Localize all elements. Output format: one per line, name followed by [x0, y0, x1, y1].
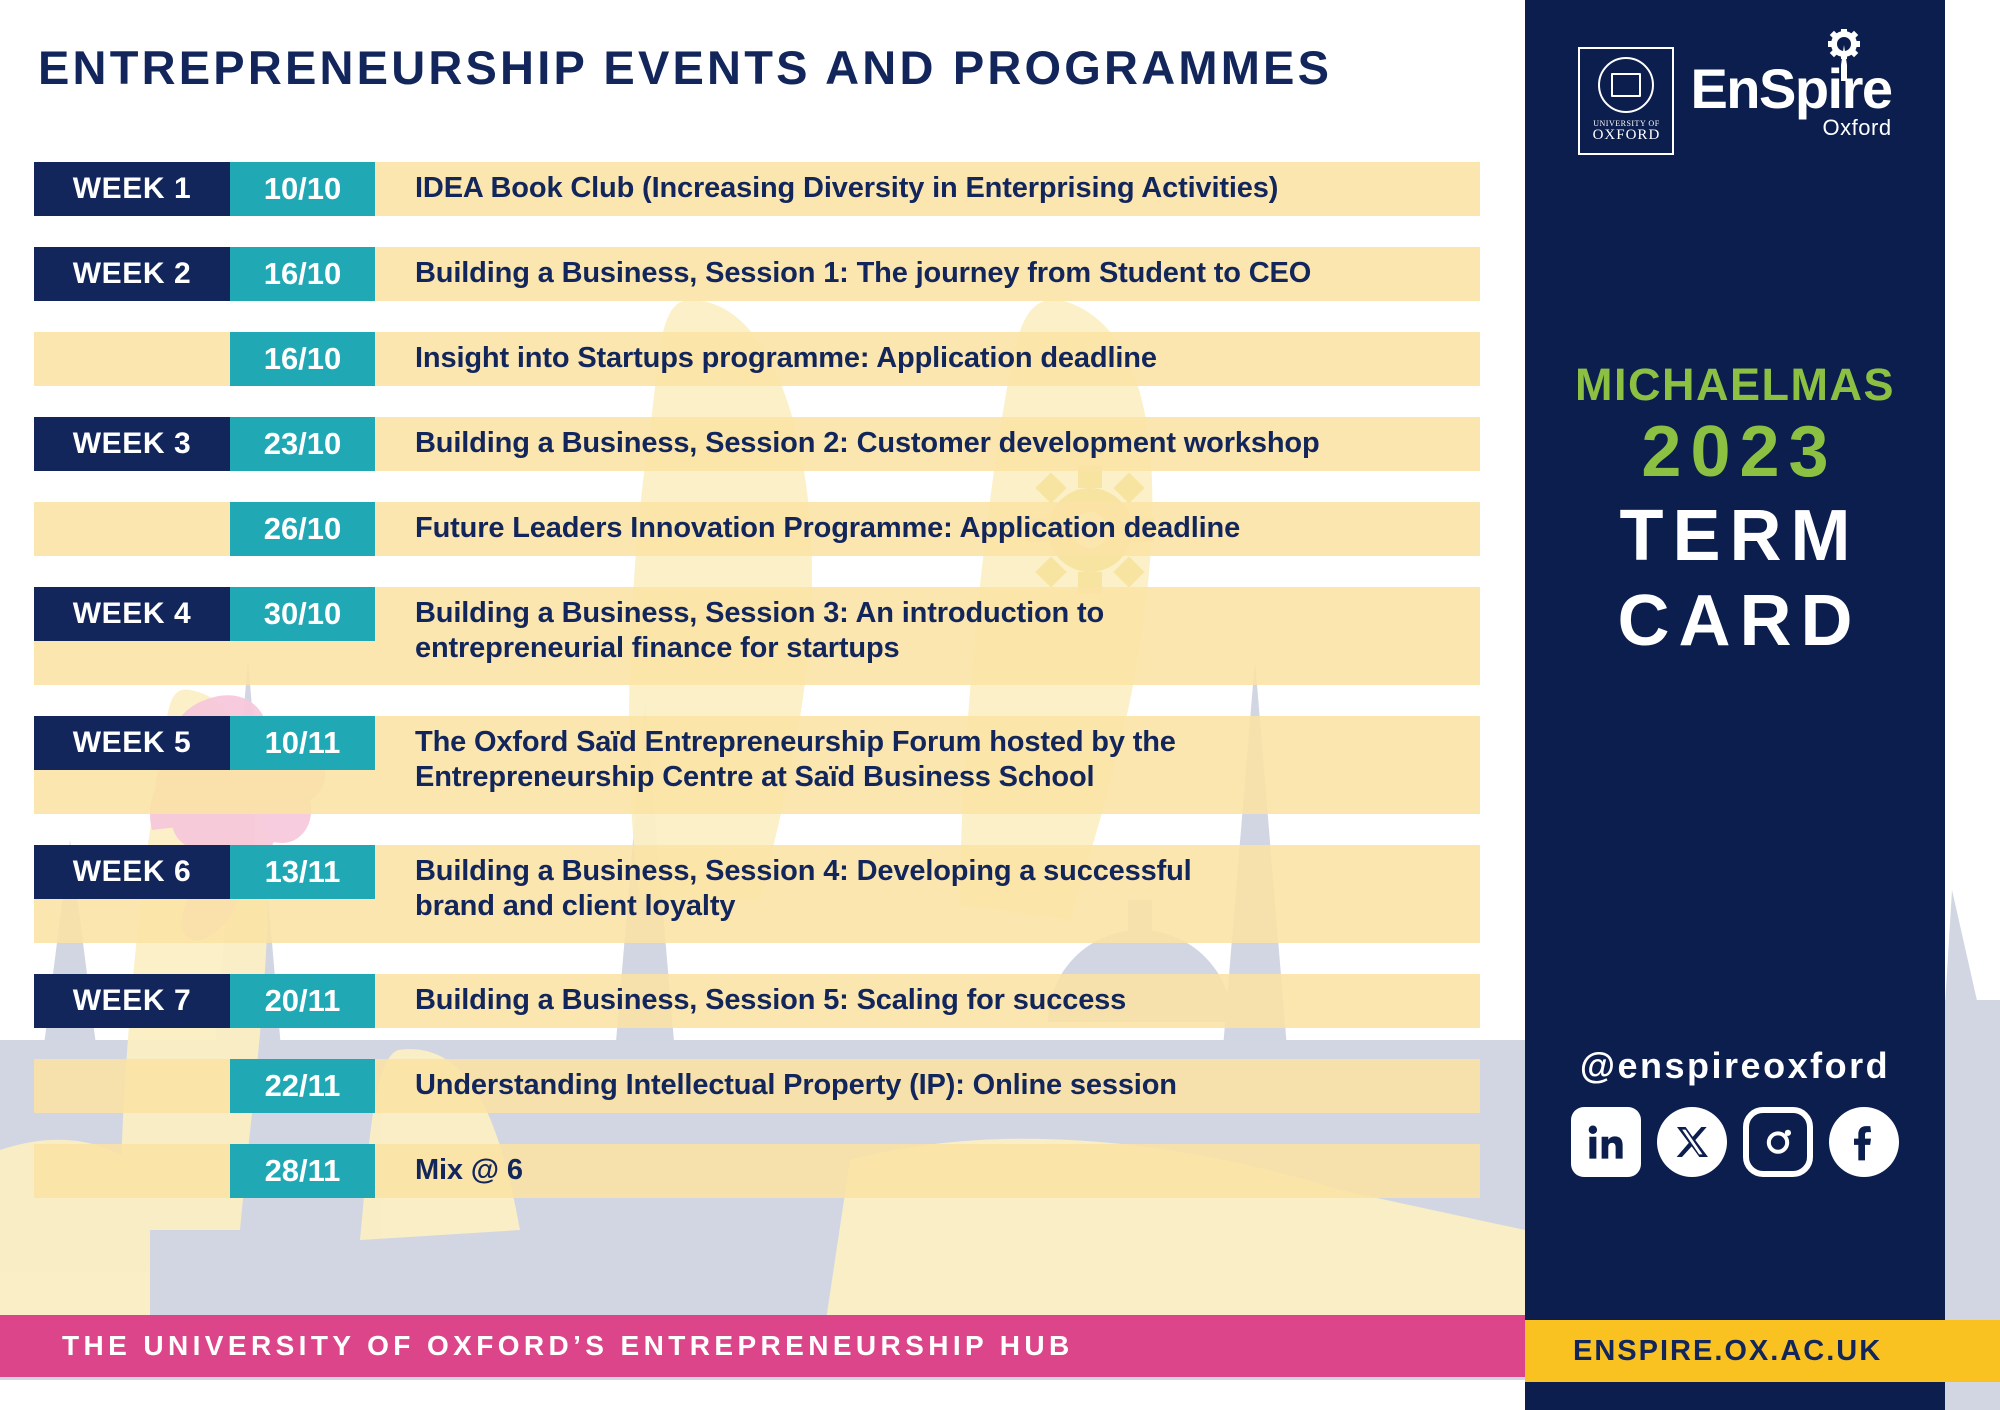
- event-row: 26/10Future Leaders Innovation Programme…: [0, 502, 1525, 556]
- facebook-glyph: [1844, 1122, 1884, 1162]
- event-title: IDEA Book Club (Increasing Diversity in …: [415, 162, 1465, 216]
- event-title-line: Entrepreneurship Centre at Saïd Business…: [415, 760, 1176, 795]
- event-title: Building a Business, Session 3: An intro…: [415, 587, 1465, 685]
- date-badge: 22/11: [230, 1059, 375, 1113]
- event-title: Future Leaders Innovation Programme: App…: [415, 502, 1465, 556]
- event-title-line: Building a Business, Session 3: An intro…: [415, 596, 1104, 631]
- event-row: WEEK 613/11Building a Business, Session …: [0, 845, 1525, 943]
- event-title: Understanding Intellectual Property (IP)…: [415, 1059, 1465, 1113]
- spire-gear-icon: [1822, 29, 1866, 81]
- date-badge: 16/10: [230, 247, 375, 301]
- term-name: MICHAELMAS: [1525, 360, 1945, 410]
- date-badge: 10/10: [230, 162, 375, 216]
- event-title: Building a Business, Session 4: Developi…: [415, 845, 1465, 943]
- event-row: WEEK 110/10IDEA Book Club (Increasing Di…: [0, 162, 1525, 216]
- x-glyph: [1672, 1122, 1712, 1162]
- date-badge: 26/10: [230, 502, 375, 556]
- oxford-crest-logo: UNIVERSITY OF OXFORD: [1578, 47, 1674, 155]
- footer-website: ENSPIRE.OX.AC.UK: [1573, 1335, 1882, 1368]
- card-word: CARD: [1534, 579, 1945, 664]
- event-title: Building a Business, Session 1: The jour…: [415, 247, 1465, 301]
- date-badge: 23/10: [230, 417, 375, 471]
- event-row: WEEK 720/11Building a Business, Session …: [0, 974, 1525, 1028]
- week-badge: WEEK 1: [34, 162, 230, 216]
- event-title-line: The Oxford Saïd Entrepreneurship Forum h…: [415, 725, 1176, 760]
- social-icons: [1525, 1107, 1945, 1177]
- linkedin-icon[interactable]: [1571, 1107, 1641, 1177]
- main-content: ENTREPRENEURSHIP EVENTS AND PROGRAMMES W…: [0, 0, 1525, 1410]
- instagram-icon[interactable]: [1743, 1107, 1813, 1177]
- date-badge: 30/10: [230, 587, 375, 641]
- event-title: Insight into Startups programme: Applica…: [415, 332, 1465, 386]
- facebook-icon[interactable]: [1829, 1107, 1899, 1177]
- term-word: TERM: [1534, 494, 1945, 579]
- event-title-line: Building a Business, Session 5: Scaling …: [415, 983, 1126, 1018]
- instagram-glyph: [1756, 1120, 1800, 1164]
- date-badge: 16/10: [230, 332, 375, 386]
- event-title: Mix @ 6: [415, 1144, 1465, 1198]
- event-row: 16/10Insight into Startups programme: Ap…: [0, 332, 1525, 386]
- week-badge: WEEK 4: [34, 587, 230, 641]
- event-title-line: Building a Business, Session 4: Developi…: [415, 854, 1192, 889]
- event-title: Building a Business, Session 2: Customer…: [415, 417, 1465, 471]
- oxford-seal-icon: [1598, 57, 1654, 113]
- week-badge: WEEK 5: [34, 716, 230, 770]
- enspire-logo: EnSpire Oxford: [1690, 61, 1891, 141]
- x-twitter-icon[interactable]: [1657, 1107, 1727, 1177]
- week-badge: WEEK 2: [34, 247, 230, 301]
- date-badge: 13/11: [230, 845, 375, 899]
- event-row: WEEK 216/10Building a Business, Session …: [0, 247, 1525, 301]
- logo-block: UNIVERSITY OF OXFORD EnSpire Oxford: [1525, 46, 1945, 156]
- page-title: ENTREPRENEURSHIP EVENTS AND PROGRAMMES: [38, 40, 1332, 95]
- event-row: WEEK 323/10Building a Business, Session …: [0, 417, 1525, 471]
- term-block: MICHAELMAS 2023 TERM CARD: [1525, 360, 1945, 664]
- social-handle: @enspireoxford: [1525, 1045, 1945, 1087]
- event-title-line: Building a Business, Session 1: The jour…: [415, 256, 1311, 291]
- event-title-line: Insight into Startups programme: Applica…: [415, 341, 1157, 376]
- event-title-line: Building a Business, Session 2: Customer…: [415, 426, 1320, 461]
- date-badge: 28/11: [230, 1144, 375, 1198]
- event-title-line: Understanding Intellectual Property (IP)…: [415, 1068, 1177, 1103]
- sidebar: UNIVERSITY OF OXFORD EnSpire Oxford: [1525, 0, 1945, 1410]
- events-list: WEEK 110/10IDEA Book Club (Increasing Di…: [0, 162, 1525, 1229]
- footer-tagline-bar: THE UNIVERSITY OF OXFORD’S ENTREPRENEURS…: [0, 1315, 1525, 1377]
- event-title: Building a Business, Session 5: Scaling …: [415, 974, 1465, 1028]
- event-title-line: IDEA Book Club (Increasing Diversity in …: [415, 171, 1278, 206]
- term-year: 2023: [1534, 410, 1945, 495]
- crest-line-2: OXFORD: [1593, 128, 1661, 143]
- event-row: WEEK 430/10Building a Business, Session …: [0, 587, 1525, 685]
- event-title: The Oxford Saïd Entrepreneurship Forum h…: [415, 716, 1465, 814]
- event-title-line: Future Leaders Innovation Programme: App…: [415, 511, 1240, 546]
- footer-tagline: THE UNIVERSITY OF OXFORD’S ENTREPRENEURS…: [62, 1330, 1074, 1362]
- event-row: 22/11Understanding Intellectual Property…: [0, 1059, 1525, 1113]
- week-badge: WEEK 7: [34, 974, 230, 1028]
- linkedin-glyph: [1585, 1121, 1627, 1163]
- event-row: 28/11Mix @ 6: [0, 1144, 1525, 1198]
- social-block: @enspireoxford: [1525, 1045, 1945, 1177]
- week-badge: WEEK 3: [34, 417, 230, 471]
- date-badge: 20/11: [230, 974, 375, 1028]
- event-title-line: brand and client loyalty: [415, 889, 1192, 924]
- footer-website-bar[interactable]: ENSPIRE.OX.AC.UK: [1525, 1320, 2000, 1382]
- event-row: WEEK 510/11The Oxford Saïd Entrepreneurs…: [0, 716, 1525, 814]
- date-badge: 10/11: [230, 716, 375, 770]
- term-card-poster: ENTREPRENEURSHIP EVENTS AND PROGRAMMES W…: [0, 0, 2000, 1410]
- event-title-line: Mix @ 6: [415, 1153, 523, 1188]
- event-title-line: entrepreneurial finance for startups: [415, 631, 1104, 666]
- week-badge: WEEK 6: [34, 845, 230, 899]
